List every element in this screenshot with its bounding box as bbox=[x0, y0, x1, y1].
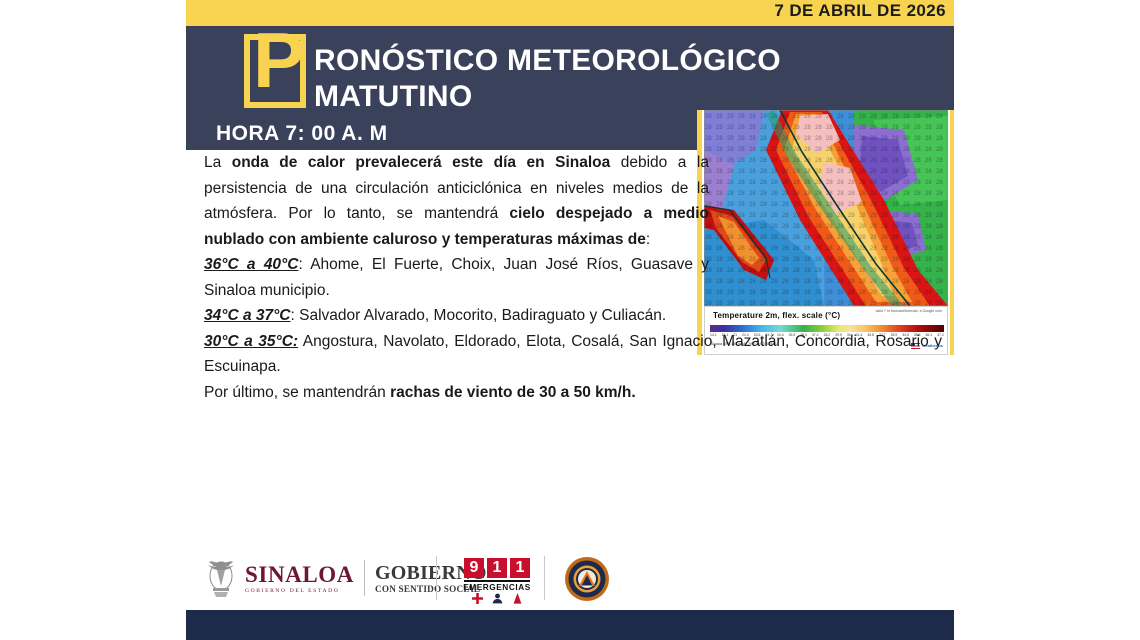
temp-range-places: Angostura, Navolato, Eldorado, Elota, Co… bbox=[204, 333, 942, 376]
temp-range-places: Salvador Alvarado, Mocorito, Badiraguato… bbox=[299, 307, 666, 324]
temp-range-sep: : bbox=[298, 256, 310, 273]
bottom-bar bbox=[186, 610, 954, 640]
police-icon bbox=[492, 593, 503, 604]
emergency-digit: 1 bbox=[510, 558, 530, 578]
intro-t1: La bbox=[204, 154, 232, 171]
slide-canvas: 7 DE ABRIL DE 2026 P RONÓSTICO METEOROLÓ… bbox=[186, 0, 954, 640]
sinaloa-name: SINALOA bbox=[245, 563, 354, 586]
temp-range-sep: : bbox=[291, 307, 300, 324]
temp-range-label: 36°C a 40°C bbox=[204, 256, 298, 273]
temp-range-label: 30°C a 35°C: bbox=[204, 333, 298, 350]
closing-t1: Por último, se mantendrán bbox=[204, 384, 390, 401]
medical-cross-icon bbox=[472, 593, 483, 604]
civil-protection-badge bbox=[564, 556, 610, 602]
sinaloa-subtitle: GOBIERNO DEL ESTADO bbox=[245, 588, 354, 594]
temp-range-row: 36°C a 40°C: Ahome, El Fuerte, Choix, Ju… bbox=[204, 252, 709, 303]
intro-paragraph: La onda de calor prevalecerá este día en… bbox=[204, 150, 709, 252]
footer-logos: SINALOA GOBIERNO DEL ESTADO GOBIERNO CON… bbox=[186, 548, 954, 610]
sinaloa-government-logo: SINALOA GOBIERNO DEL ESTADO GOBIERNO CON… bbox=[204, 554, 487, 602]
emergency-911-logo: 9 1 1 EMERGENCIAS bbox=[461, 558, 533, 604]
footer-divider-1 bbox=[436, 556, 437, 600]
temp-range-row: 34°C a 37°C: Salvador Alvarado, Mocorito… bbox=[204, 303, 942, 329]
footer-divider-2 bbox=[544, 556, 545, 600]
logo-p-box: P bbox=[244, 34, 306, 108]
logo-p-letter: P bbox=[248, 23, 310, 97]
date-text: 7 DE ABRIL DE 2026 bbox=[774, 1, 946, 21]
sinaloa-seal-icon bbox=[204, 556, 238, 600]
emergency-label: EMERGENCIAS bbox=[461, 583, 533, 592]
emergency-digit: 1 bbox=[487, 558, 507, 578]
fire-icon bbox=[512, 593, 523, 604]
closing-b1: rachas de viento de 30 a 50 km/h. bbox=[390, 384, 636, 401]
intro-t3: : bbox=[646, 231, 650, 248]
logo-divider bbox=[364, 560, 365, 596]
forecast-body: La onda de calor prevalecerá este día en… bbox=[204, 150, 942, 405]
temp-range-label: 34°C a 37°C bbox=[204, 307, 291, 324]
forecast-time: HORA 7: 00 A. M bbox=[216, 122, 388, 146]
sinaloa-wordmark: SINALOA GOBIERNO DEL ESTADO GOBIERNO CON… bbox=[245, 560, 487, 596]
emergency-service-icons bbox=[461, 593, 533, 604]
closing-paragraph: Por último, se mantendrán rachas de vien… bbox=[204, 380, 942, 406]
emergency-underline bbox=[464, 580, 530, 582]
intro-b1: onda de calor prevalecerá este día en Si… bbox=[232, 154, 611, 171]
emergency-digit: 9 bbox=[464, 558, 484, 578]
page-title: RONÓSTICO METEOROLÓGICO MATUTINO bbox=[314, 43, 924, 115]
emergency-digits: 9 1 1 bbox=[461, 558, 533, 578]
temp-range-row: 30°C a 35°C: Angostura, Navolato, Eldora… bbox=[204, 329, 942, 380]
